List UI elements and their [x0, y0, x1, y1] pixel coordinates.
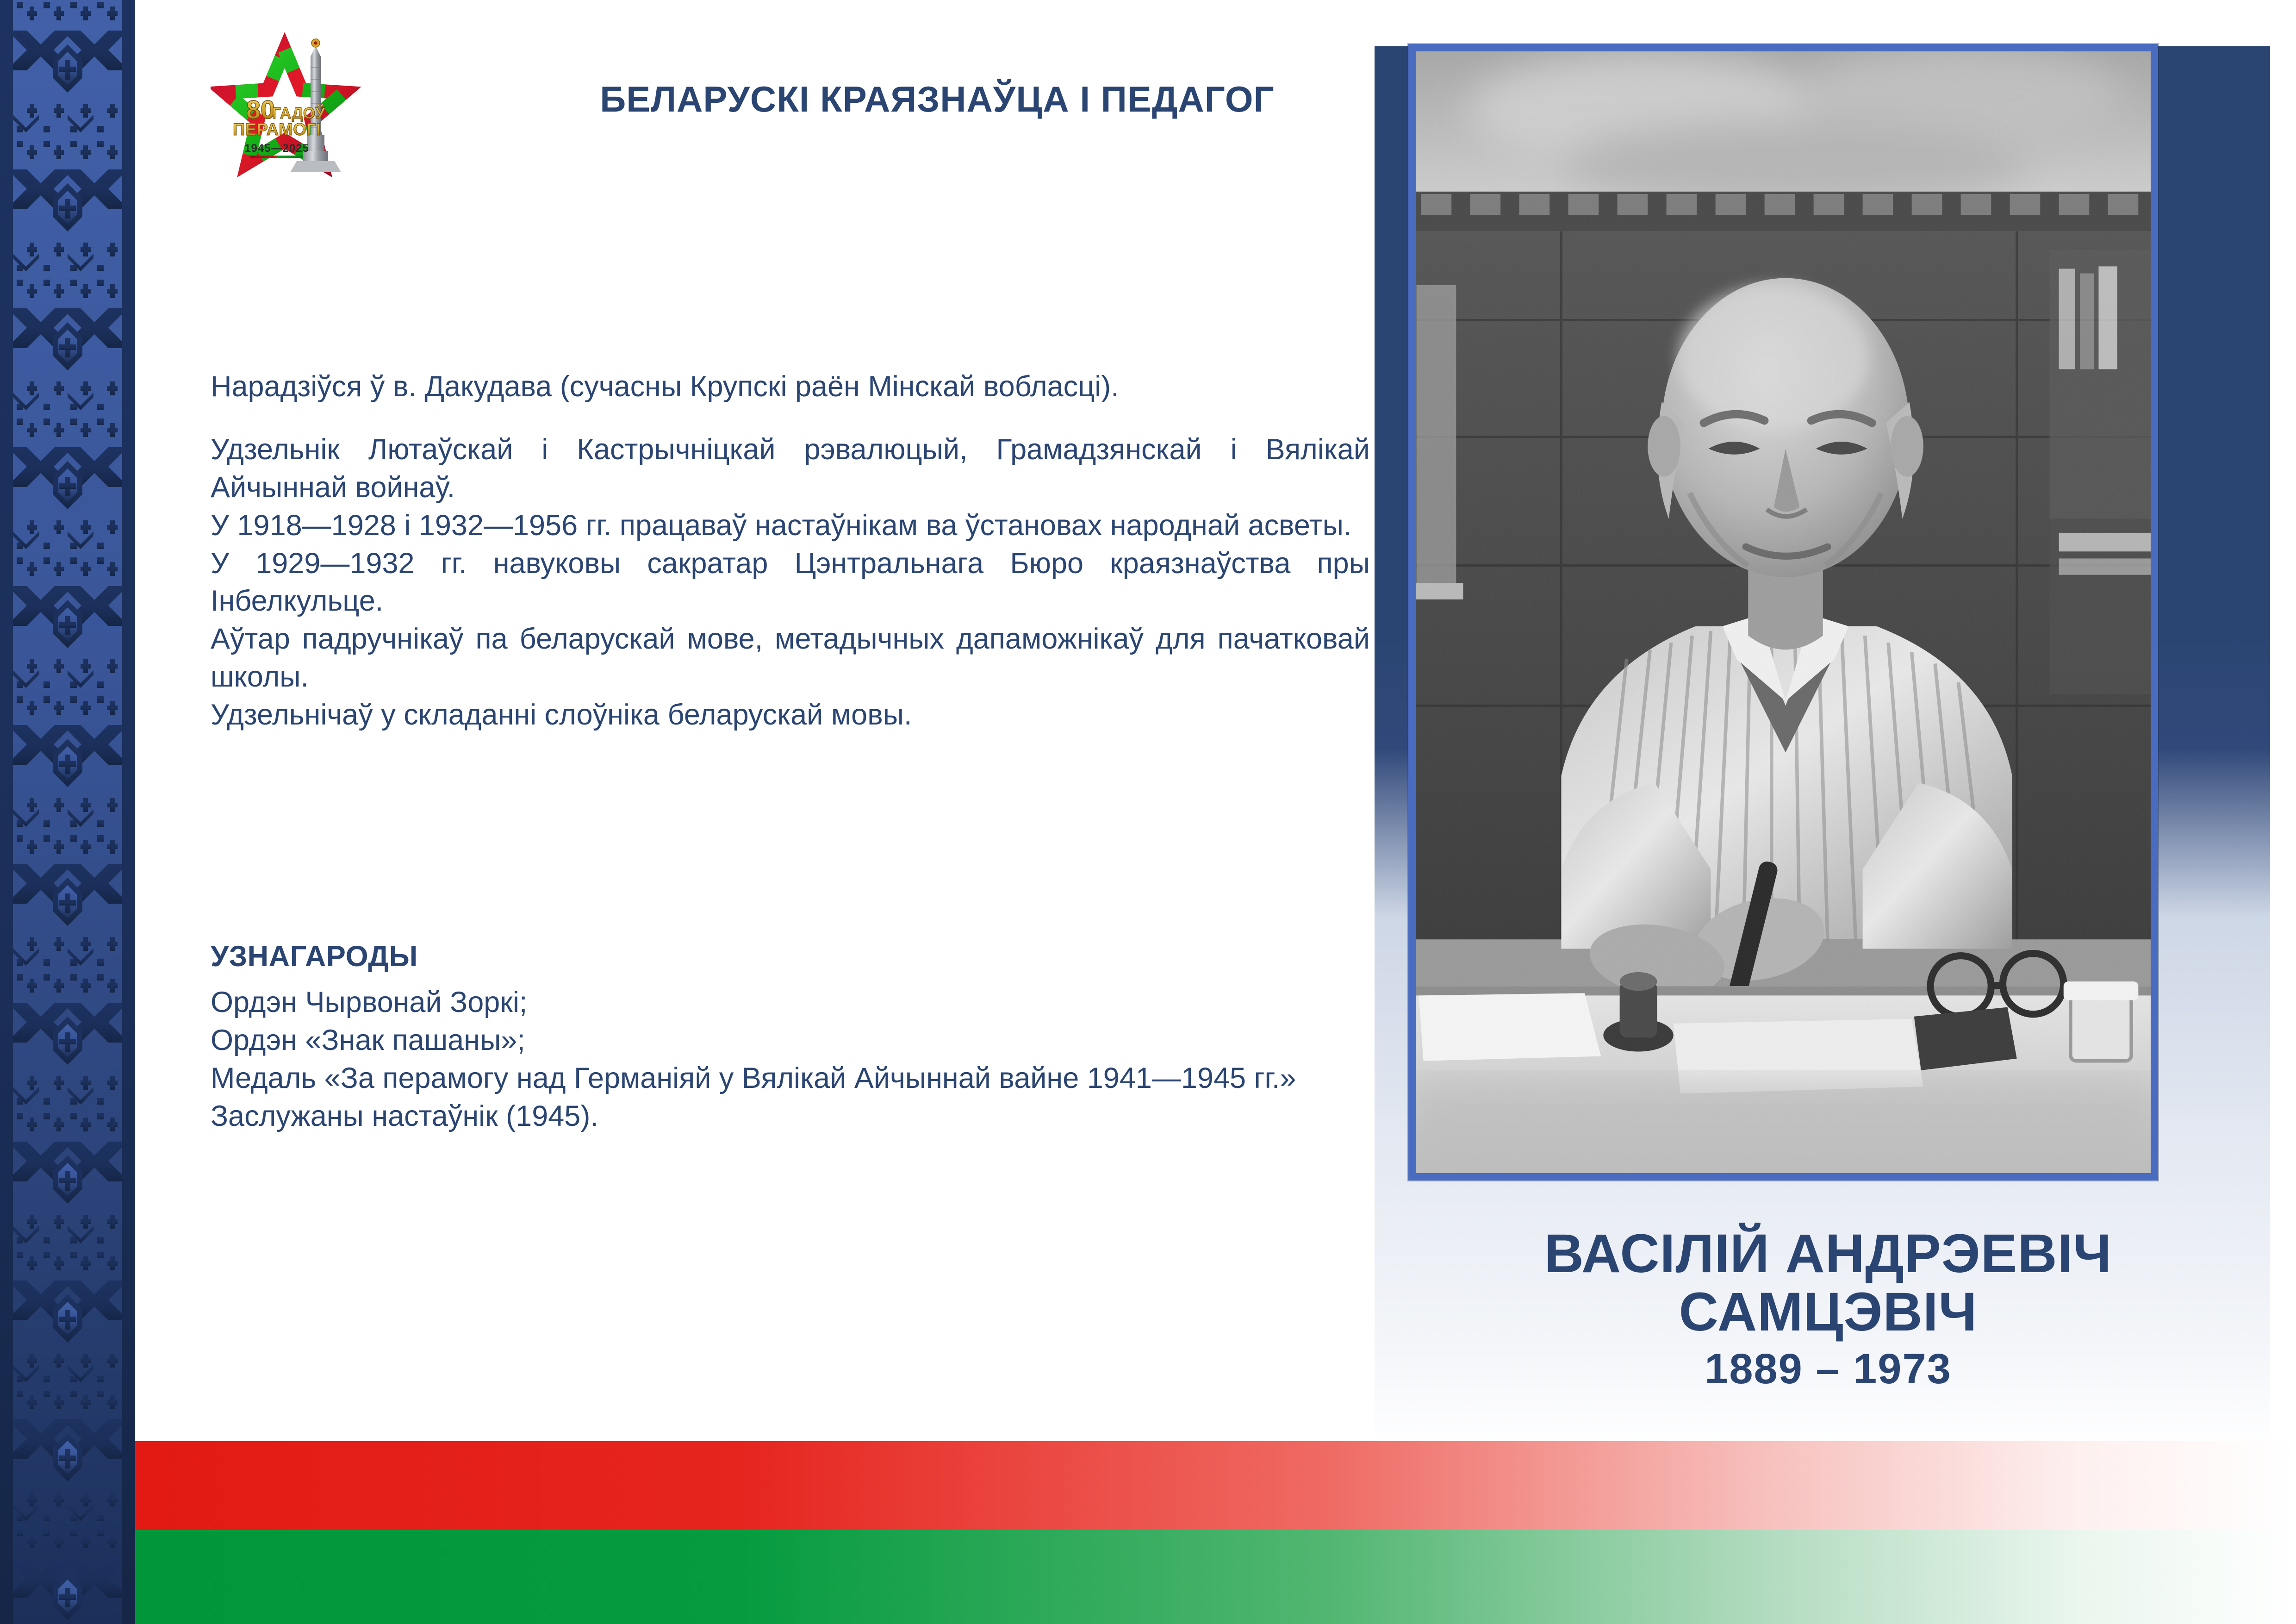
portrait-photo-image — [1416, 51, 2151, 1173]
bio-paragraph-dictionary: Удзельнічаў у складанні слоўніка беларус… — [211, 696, 1370, 734]
ornament-pattern-icon — [0, 0, 135, 1624]
emblem-victory-word: ПЕРАМОГІ — [233, 120, 321, 139]
portrait-photo — [1416, 51, 2151, 1173]
bio-paragraph-textbooks: Аўтар падручнікаў па беларускай мове, ме… — [211, 620, 1370, 696]
awards-heading: УЗНАГАРОДЫ — [211, 940, 418, 973]
belarusian-ornament-border — [0, 0, 135, 1624]
flag-stripe-red — [135, 1441, 2296, 1530]
person-name-line1: ВАСІЛІЙ АНДРЭЕВІЧ — [1381, 1224, 2275, 1283]
person-name-line2: САМЦЭВІЧ — [1381, 1283, 2275, 1341]
award-item-badge-honor: Ордэн «Знак пашаны»; — [211, 1022, 1370, 1060]
person-name: ВАСІЛІЙ АНДРЭЕВІЧ САМЦЭВІЧ — [1381, 1224, 2275, 1342]
person-life-dates: 1889 – 1973 — [1381, 1345, 2275, 1393]
bio-paragraph-teaching: У 1918—1928 і 1932—1956 гг. працаваў нас… — [211, 507, 1370, 545]
award-item-red-star: Ордэн Чырвонай Зоркі; — [211, 984, 1370, 1022]
biography-block: Нарадзіўся ў в. Дакудава (сучасны Крупск… — [211, 368, 1370, 734]
emblem-flag-underline — [250, 156, 303, 158]
bio-paragraph-secretary: У 1929—1932 гг. навуковы сакратар Цэнтра… — [211, 545, 1370, 621]
belarus-flag-band — [135, 1441, 2296, 1624]
award-item-honored-teacher: Заслужаны настаўнік (1945). — [211, 1098, 1370, 1136]
award-item-medal-germany: Медаль «За перамогу над Германіяй у Вялі… — [211, 1060, 1370, 1098]
emblem-year-range: 1945—2025 — [244, 142, 309, 155]
bio-paragraph-wars: Удзельнік Лютаўскай і Кастрычніцкай рэва… — [211, 431, 1370, 507]
awards-list: Ордэн Чырвонай Зоркі; Ордэн «Знак пашаны… — [211, 984, 1370, 1136]
portrait-photo-frame — [1408, 44, 2158, 1181]
bio-paragraph-birth: Нарадзіўся ў в. Дакудава (сучасны Крупск… — [211, 368, 1370, 406]
flag-stripe-green — [135, 1530, 2296, 1624]
page-title: БЕЛАРУСКІ КРАЯЗНАЎЦА І ПЕДАГОГ — [324, 81, 1550, 117]
